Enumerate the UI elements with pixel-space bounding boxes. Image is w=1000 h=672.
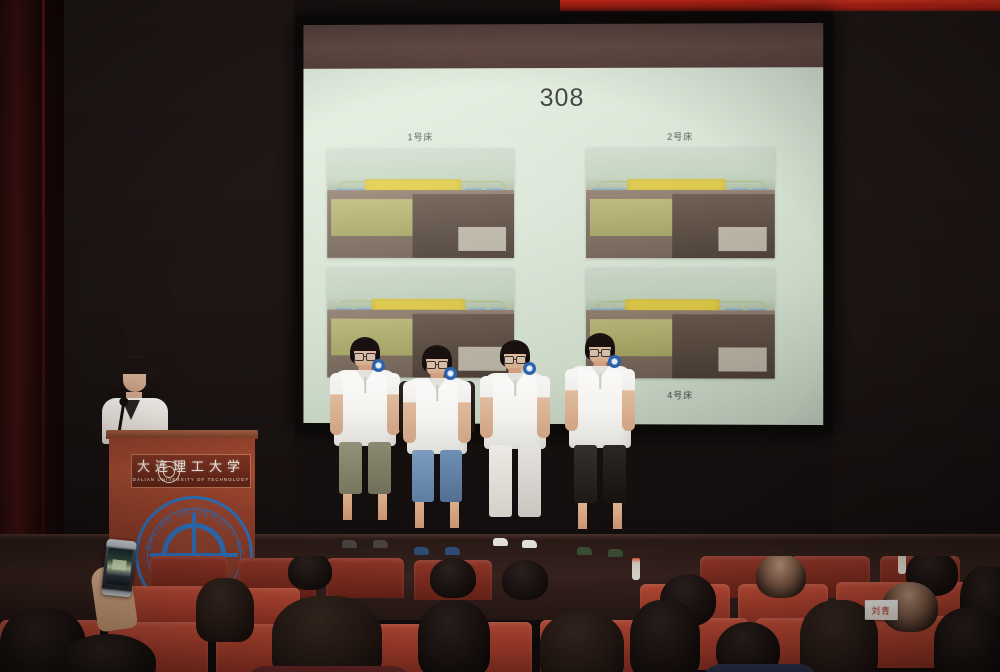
phone-screen [105,548,133,586]
ceiling-red-band-2 [770,0,1000,6]
audience-shoulders [700,664,820,672]
shirt-logo-icon [372,359,385,372]
seat-name-card-text: 刘青 [871,603,890,616]
podium-name-en: DALIAN UNIVERSITY OF TECHNOLOGY [133,477,250,482]
student-1 [334,337,396,552]
audience-head [756,556,806,598]
slide-label-bed1: 1号床 [381,130,461,143]
slide-label-bed4: 4号床 [640,388,720,401]
audience-head [502,560,548,600]
shirt-logo-icon [523,362,536,375]
podium-nameplate: 大连理工大学 DALIAN UNIVERSITY OF TECHNOLOGY [131,454,251,488]
shirt-logo-icon [444,367,457,380]
audience-head [288,556,332,590]
audience-shoulders [244,666,414,672]
presenter-speaker [96,356,174,438]
stage-curtain-left [0,0,64,620]
slide-label-bed2: 2号床 [640,130,720,143]
audience-head [540,612,624,672]
audience-head [418,600,490,672]
podium-plate-seal-icon [158,461,180,483]
seat-name-card: 刘青 [865,600,898,620]
student-2 [407,345,467,557]
audience-head [272,596,382,672]
audience-head [430,558,476,598]
shirt-logo-icon [608,355,621,368]
wall-panel-right [832,0,1000,600]
water-bottle [632,558,640,580]
screen-top-band [303,23,823,69]
smartphone-icon [101,539,137,598]
audience-phone-recorder [60,532,170,642]
audience-head [630,600,700,672]
audience-head [196,578,254,642]
slide-photo-bed2 [586,148,775,258]
audience-head [934,608,1000,672]
slide-photo-bed1 [327,148,514,258]
student-3 [484,340,546,562]
slide-title: 308 [303,83,823,113]
podium-name-cn: 大连理工大学 [137,461,245,474]
water-bottle [898,556,906,574]
student-4 [569,333,631,565]
auditorium-scene: 308 1号床 2号床 4号床 [0,0,1000,672]
